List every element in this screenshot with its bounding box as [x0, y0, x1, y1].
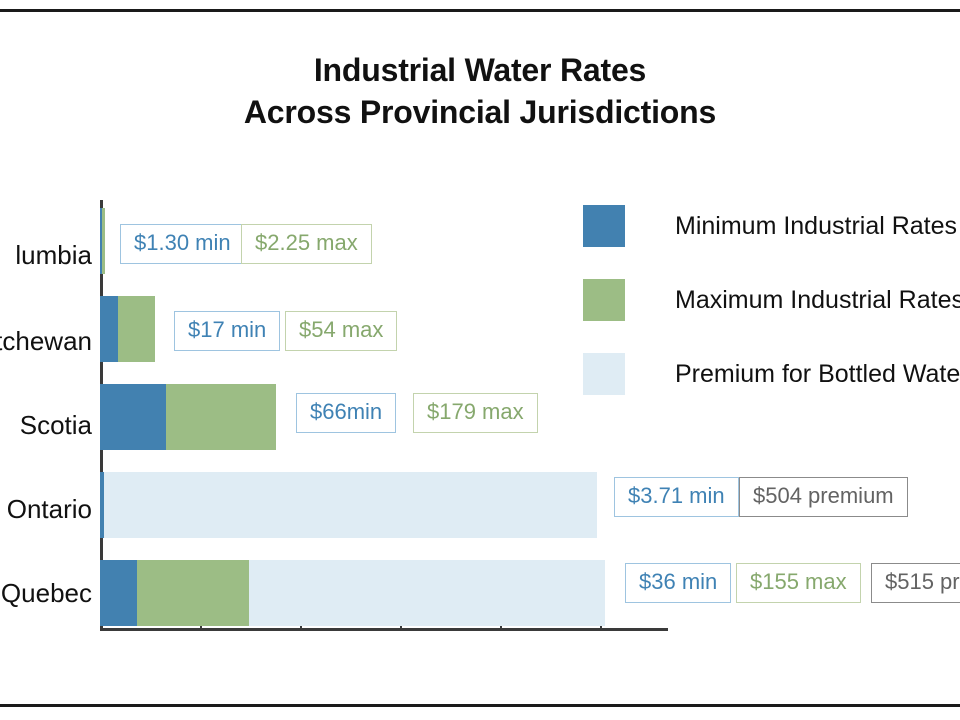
slide-bottom-rule: [0, 704, 960, 707]
bar-segment-max: [118, 296, 155, 362]
y-axis-label-ontario: Ontario: [7, 494, 92, 525]
legend-swatch-icon: [583, 205, 625, 247]
bar-segment-min: [100, 384, 166, 450]
callout-ns-min: $66min: [296, 393, 396, 433]
legend-item-label: Maximum Industrial Rates: [675, 286, 960, 315]
y-axis-label-text: Ontario: [7, 494, 92, 524]
callout-qc-premium: $515 pre: [871, 563, 960, 603]
legend-item-label: Minimum Industrial Rates: [675, 212, 957, 241]
bar-segment-max: [102, 208, 105, 274]
y-axis-label-text: Quebec: [1, 578, 92, 608]
callout-on-premium: $504 premium: [739, 477, 908, 517]
y-axis-label-british-columbia: lumbia: [15, 240, 92, 271]
chart-title: Industrial Water Rates Across Provincial…: [0, 50, 960, 133]
callout-qc-min: $36 min: [625, 563, 731, 603]
bar-segment-premium: [249, 560, 605, 626]
callout-sk-max: $54 max: [285, 311, 397, 351]
callout-sk-min: $17 min: [174, 311, 280, 351]
y-axis-label-nova-scotia: Scotia: [20, 410, 92, 441]
chart-title-line-1: Industrial Water Rates: [0, 50, 960, 92]
callout-ns-max: $179 max: [413, 393, 538, 433]
x-axis-line: [100, 628, 668, 631]
bar-segment-premium: [104, 472, 597, 538]
legend-item-maximum-industrial-rates: Maximum Industrial Rates: [583, 279, 960, 321]
legend-item-premium-for-bottled-water: Premium for Bottled Water Co: [583, 353, 960, 395]
bar-segment-min: [100, 296, 118, 362]
y-axis-label-quebec: Quebec: [1, 578, 92, 609]
callout-on-min: $3.71 min: [614, 477, 739, 517]
legend-swatch-icon: [583, 353, 625, 395]
bar-segment-max: [137, 560, 249, 626]
y-axis-label-text: lumbia: [15, 240, 92, 270]
legend-item-minimum-industrial-rates: Minimum Industrial Rates: [583, 205, 957, 247]
callout-qc-max: $155 max: [736, 563, 861, 603]
bar-segment-min: [100, 560, 137, 626]
chart-title-line-2: Across Provincial Jurisdictions: [0, 92, 960, 134]
callout-bc-max: $2.25 max: [241, 224, 372, 264]
bar-segment-max: [166, 384, 276, 450]
y-axis-label-saskatchewan: tchewan: [0, 326, 92, 357]
legend-item-label: Premium for Bottled Water Co: [675, 360, 960, 389]
legend-swatch-icon: [583, 279, 625, 321]
y-axis-label-text: Scotia: [20, 410, 92, 440]
slide-canvas: Industrial Water Rates Across Provincial…: [0, 0, 960, 720]
slide-top-rule: [0, 9, 960, 12]
callout-bc-min: $1.30 min: [120, 224, 245, 264]
y-axis-label-text: tchewan: [0, 326, 92, 356]
